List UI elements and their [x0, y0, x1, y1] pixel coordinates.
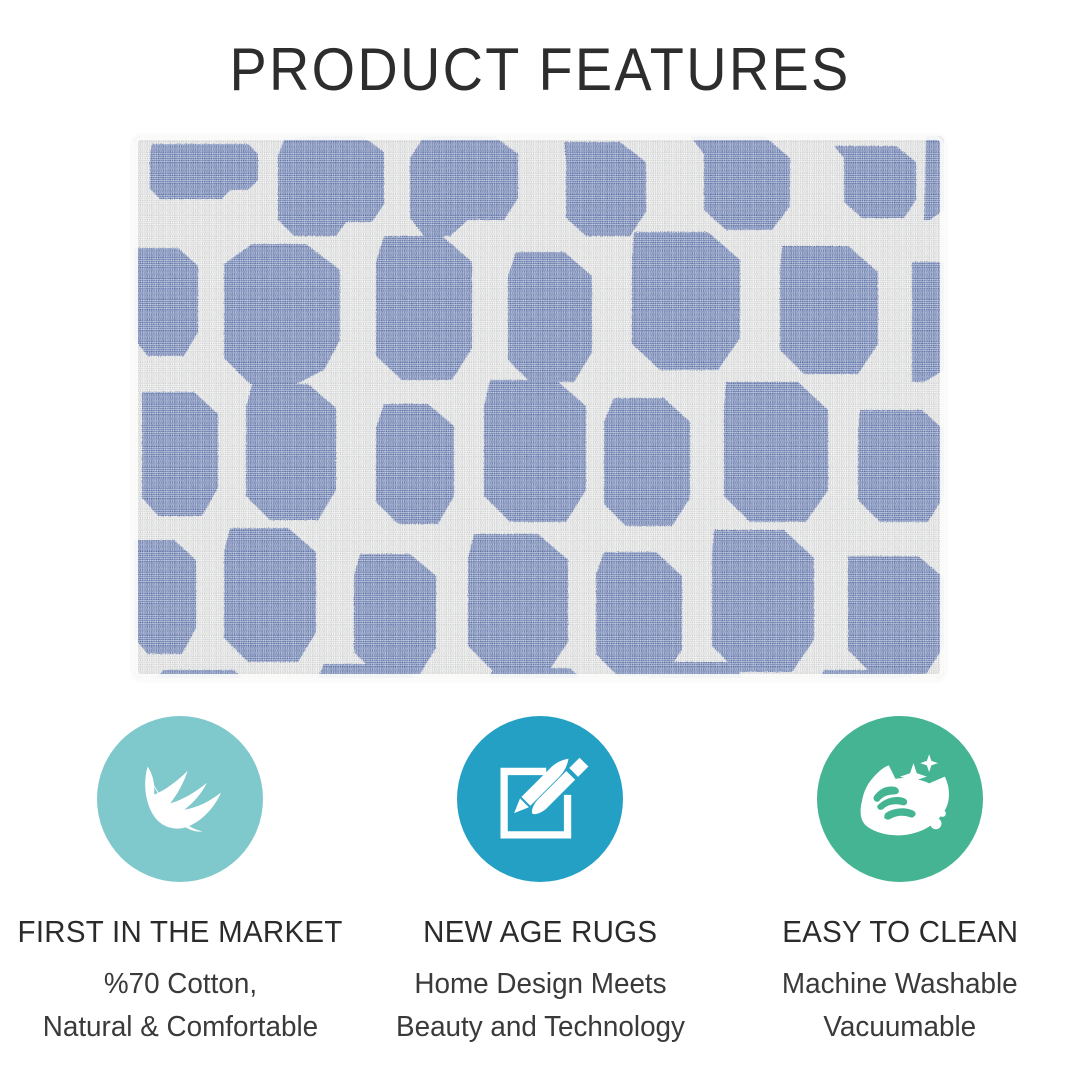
feature-body-line: Natural & Comfortable [42, 1006, 317, 1049]
feature-body-2: Home Design Meets Beauty and Technology [396, 963, 685, 1049]
feature-body-line: Machine Washable [782, 963, 1018, 1006]
design-tools-icon [488, 747, 592, 851]
feature-heading-2: NEW AGE RUGS [423, 914, 657, 950]
product-image [134, 136, 944, 678]
hand-wiping-cloth-icon [844, 743, 956, 855]
feature-easy-to-clean: EASY TO CLEAN Machine Washable Vacuumabl… [720, 716, 1080, 1049]
feature-first-in-the-market: FIRST IN THE MARKET %70 Cotton, Natural … [0, 716, 360, 1049]
feature-icon-circle-1 [97, 716, 263, 882]
feature-heading-1: FIRST IN THE MARKET [17, 914, 342, 950]
feature-heading-3: EASY TO CLEAN [782, 914, 1018, 950]
feature-new-age-rugs: NEW AGE RUGS Home Design Meets Beauty an… [360, 716, 720, 1049]
feature-icon-circle-3 [817, 716, 983, 882]
features-row: FIRST IN THE MARKET %70 Cotton, Natural … [0, 716, 1080, 1049]
feature-body-line: Beauty and Technology [396, 1006, 685, 1049]
rug-pattern [134, 136, 944, 678]
page-title: PRODUCT FEATURES [38, 36, 1042, 104]
rug-photo [134, 136, 944, 678]
feature-body-1: %70 Cotton, Natural & Comfortable [42, 963, 317, 1049]
feature-body-line: %70 Cotton, [42, 963, 317, 1006]
feature-body-3: Machine Washable Vacuumable [782, 963, 1018, 1049]
feather-icon [126, 745, 234, 853]
feature-body-line: Vacuumable [782, 1006, 1018, 1049]
feature-icon-circle-2 [457, 716, 623, 882]
feature-body-line: Home Design Meets [396, 963, 685, 1006]
